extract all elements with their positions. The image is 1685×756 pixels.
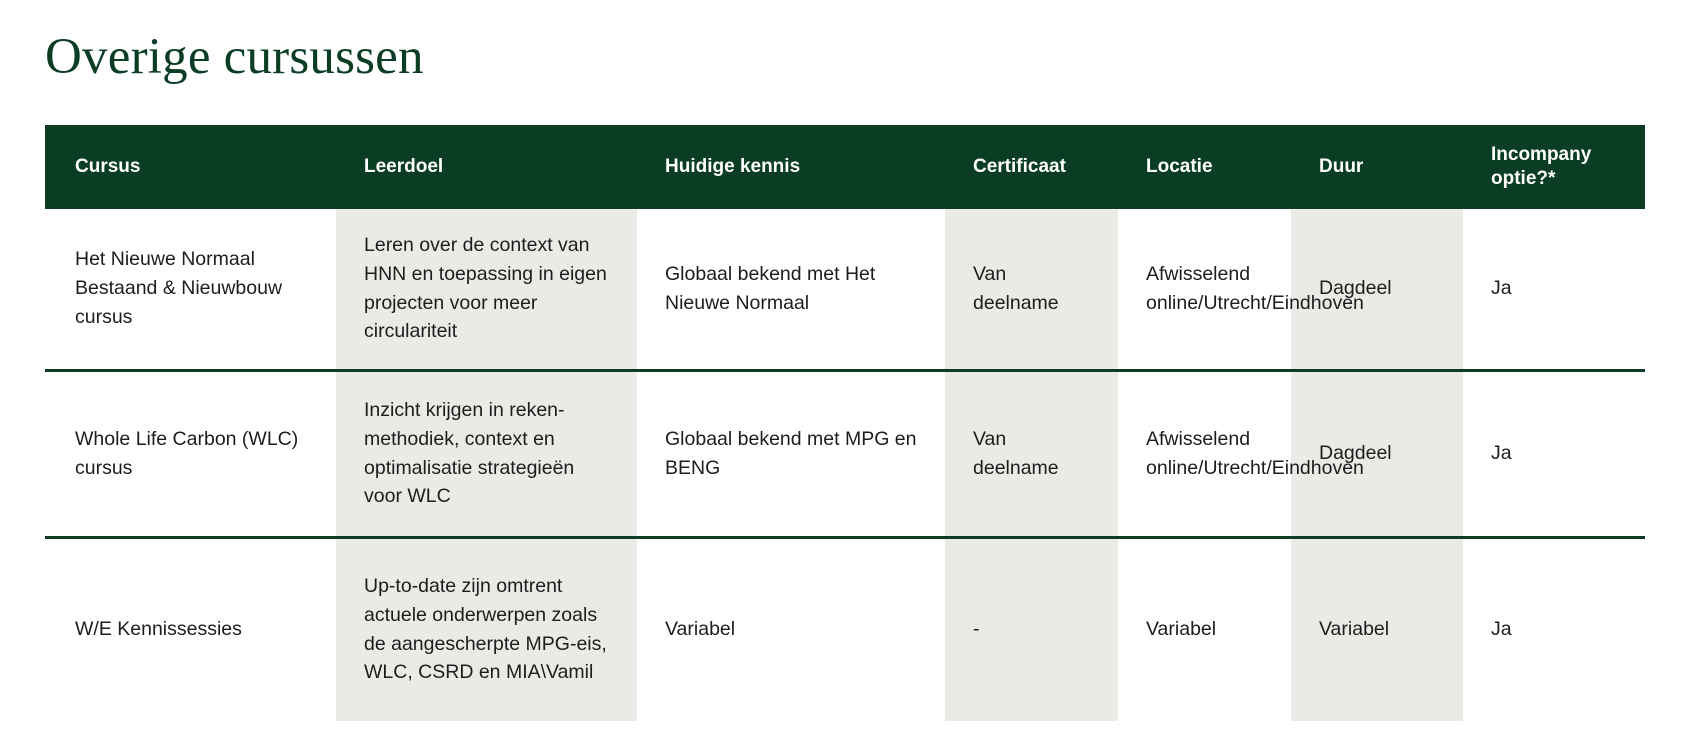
column-header-huidige-kennis: Huidige kennis [637, 125, 945, 209]
cell-leerdoel: Inzicht krijgen in reken-methodiek, cont… [336, 372, 637, 536]
cell-locatie: Afwisselend online/Utrecht/Eindhoven [1118, 372, 1291, 536]
page-root: Overige cursussen Cursus Leerdoel Huidig… [0, 0, 1685, 756]
column-header-locatie: Locatie [1118, 125, 1291, 209]
table-header-row: Cursus Leerdoel Huidige kennis Certifica… [45, 125, 1645, 209]
cell-incompany: Ja [1463, 539, 1645, 721]
cell-certificaat: Van deelname [945, 209, 1118, 369]
column-header-certificaat: Certificaat [945, 125, 1118, 209]
cell-huidige-kennis: Globaal bekend met Het Nieuwe Normaal [637, 209, 945, 369]
cell-huidige-kennis: Globaal bekend met MPG en BENG [637, 372, 945, 536]
table-header: Cursus Leerdoel Huidige kennis Certifica… [45, 125, 1645, 209]
page-title: Overige cursussen [45, 28, 424, 87]
cell-incompany: Ja [1463, 372, 1645, 536]
cell-huidige-kennis: Variabel [637, 539, 945, 721]
table-row: Whole Life Carbon (WLC) cursus Inzicht k… [45, 372, 1645, 536]
cell-locatie: Afwisselend online/Utrecht/Eindhoven [1118, 209, 1291, 369]
table-row: Het Nieuwe Normaal Bestaand & Nieuwbouw … [45, 209, 1645, 369]
cell-cursus: Whole Life Carbon (WLC) cursus [45, 372, 336, 536]
cell-certificaat: - [945, 539, 1118, 721]
courses-table-container: Cursus Leerdoel Huidige kennis Certifica… [45, 125, 1645, 721]
cell-leerdoel: Up-to-date zijn omtrent actuele onderwer… [336, 539, 637, 721]
cell-leerdoel: Leren over de context van HNN en toepass… [336, 209, 637, 369]
column-header-incompany-optie: Incompany optie?* [1463, 125, 1645, 209]
cell-duur: Variabel [1291, 539, 1463, 721]
cell-certificaat: Van deelname [945, 372, 1118, 536]
cell-cursus: Het Nieuwe Normaal Bestaand & Nieuwbouw … [45, 209, 336, 369]
table-row: W/E Kennissessies Up-to-date zijn omtren… [45, 539, 1645, 721]
table-body: Het Nieuwe Normaal Bestaand & Nieuwbouw … [45, 209, 1645, 721]
column-header-cursus: Cursus [45, 125, 336, 209]
cell-cursus: W/E Kennissessies [45, 539, 336, 721]
column-header-duur: Duur [1291, 125, 1463, 209]
column-header-leerdoel: Leerdoel [336, 125, 637, 209]
courses-table: Cursus Leerdoel Huidige kennis Certifica… [45, 125, 1645, 721]
cell-incompany: Ja [1463, 209, 1645, 369]
cell-locatie: Variabel [1118, 539, 1291, 721]
